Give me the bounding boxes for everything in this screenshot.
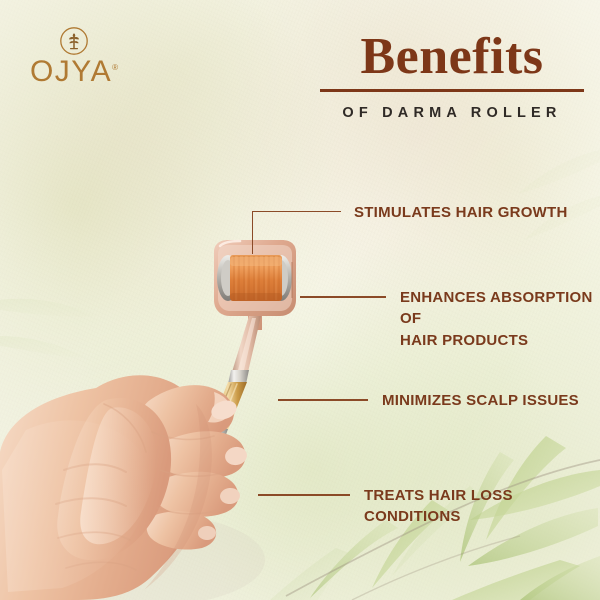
benefit-item-1: STIMULATES HAIR GROWTH	[252, 202, 568, 223]
benefit-item-2: ENHANCES ABSORPTION OF HAIR PRODUCTS	[300, 287, 600, 351]
roller-shaft	[228, 316, 261, 384]
benefit-connector-line-1	[252, 211, 340, 213]
benefit-label-1: STIMULATES HAIR GROWTH	[354, 202, 568, 223]
poster-canvas: OJYA® Benefits OF DARMA ROLLER	[0, 0, 600, 600]
benefit-connector-line-2	[300, 296, 386, 298]
benefit-item-4: TREATS HAIR LOSS CONDITIONS	[258, 485, 513, 528]
benefit-connector-line-4	[258, 494, 350, 496]
benefit-label-4: TREATS HAIR LOSS CONDITIONS	[364, 485, 513, 528]
benefit-connector-line-3	[278, 399, 368, 401]
benefit-label-3: MINIMIZES SCALP ISSUES	[382, 390, 579, 411]
benefit-label-2: ENHANCES ABSORPTION OF HAIR PRODUCTS	[400, 287, 600, 351]
benefit-item-3: MINIMIZES SCALP ISSUES	[278, 390, 579, 411]
